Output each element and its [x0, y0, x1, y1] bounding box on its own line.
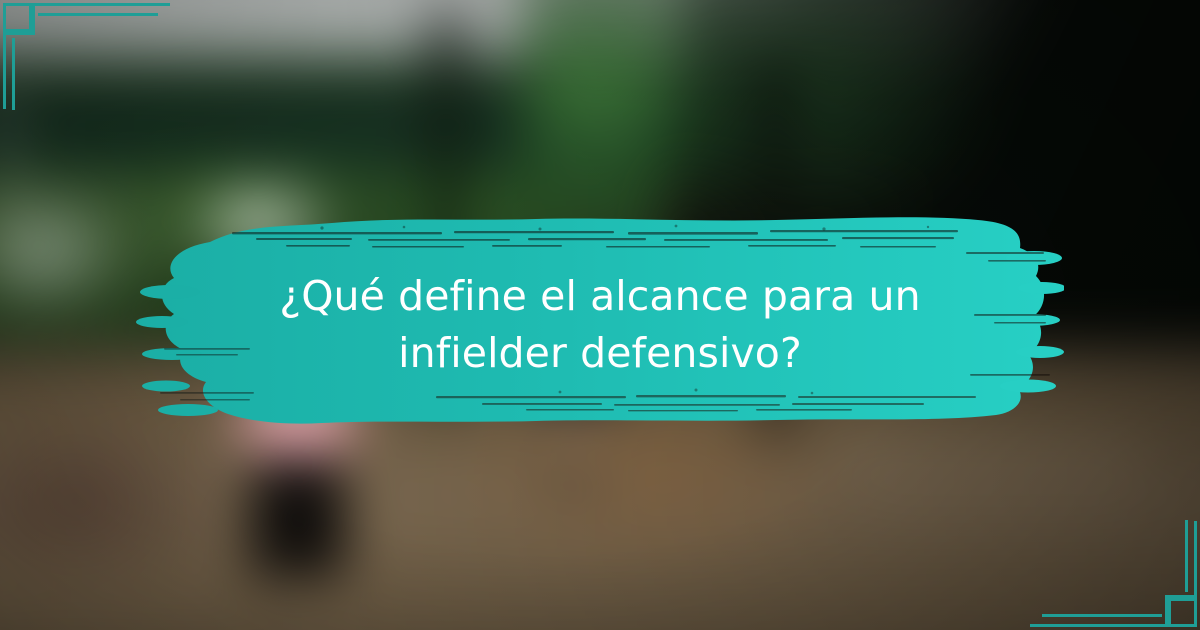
corner-line-vertical-inner [1185, 520, 1188, 592]
corner-line-vertical-short [1168, 599, 1171, 627]
quiz-card: ¿Qué define el alcance para un infielder… [0, 0, 1200, 630]
corner-line-vertical-outer [3, 29, 6, 109]
corner-line-vertical-outer [1194, 521, 1197, 601]
corner-line-elbow [3, 29, 32, 32]
corner-decoration-top-left [0, 0, 170, 120]
question-text: ¿Qué define el alcance para un infielder… [136, 268, 1064, 381]
question-banner: ¿Qué define el alcance para un infielder… [136, 196, 1064, 446]
corner-line-elbow [1168, 598, 1197, 601]
corner-line-vertical-short [29, 3, 32, 31]
corner-line-horizontal-outer [1030, 624, 1170, 627]
corner-line-vertical-inner [12, 38, 15, 110]
corner-line-horizontal-inner [1042, 614, 1162, 617]
corner-line-horizontal-outer [30, 3, 170, 6]
corner-line-horizontal-inner [38, 13, 158, 16]
corner-decoration-bottom-right [1030, 510, 1200, 630]
